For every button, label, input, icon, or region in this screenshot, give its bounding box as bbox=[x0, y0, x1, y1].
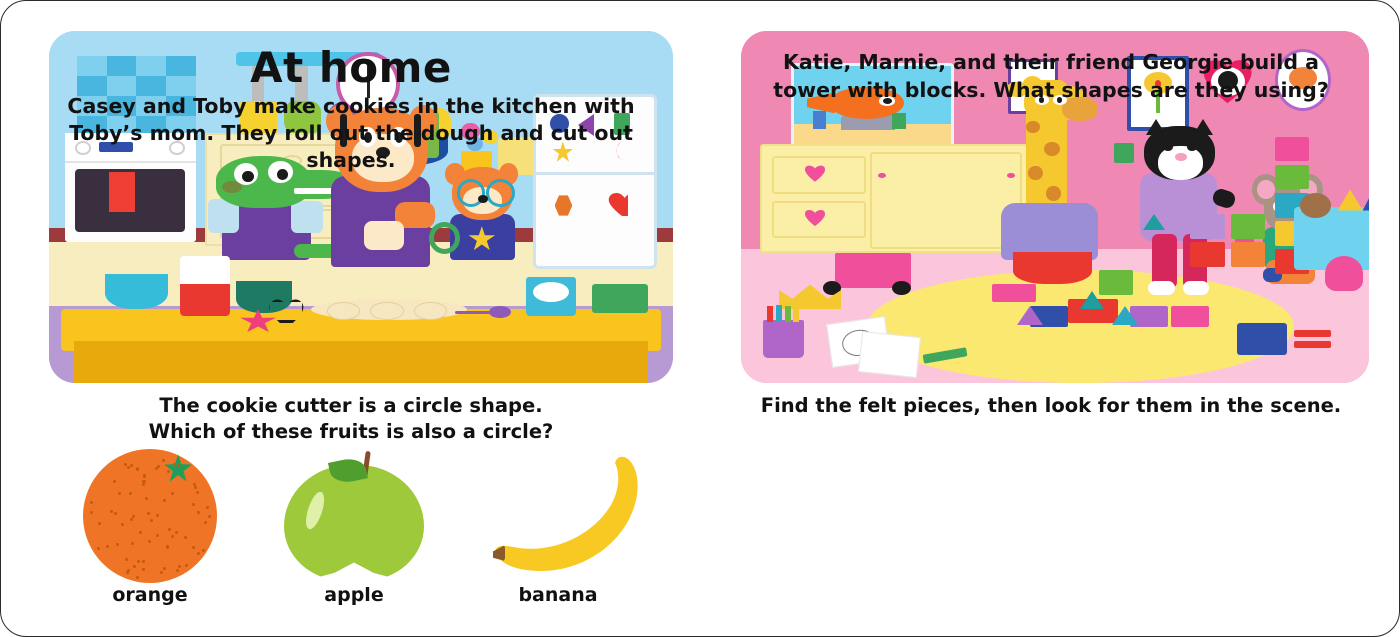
left-caption: The cookie cutter is a circle shape. Whi… bbox=[1, 393, 701, 445]
dough-circle-2 bbox=[370, 302, 403, 319]
orange-speckle bbox=[131, 542, 134, 545]
orange-speckle bbox=[184, 536, 187, 539]
block-triangle-purple bbox=[1017, 306, 1043, 325]
fish-tank-plant-icon bbox=[892, 113, 906, 129]
block-triangle-teal-2 bbox=[1143, 214, 1165, 230]
block-green-1 bbox=[1275, 165, 1310, 190]
orange-speckle bbox=[206, 506, 209, 509]
orange-speckle bbox=[90, 511, 93, 514]
orange-speckle bbox=[193, 483, 196, 486]
label-apple: apple bbox=[284, 584, 424, 606]
orange-speckle bbox=[171, 535, 174, 538]
orange-speckle bbox=[202, 549, 205, 552]
orange-speckle bbox=[148, 540, 151, 543]
orange-speckle bbox=[125, 558, 128, 561]
orange-speckle bbox=[142, 560, 145, 563]
orange-speckle bbox=[192, 546, 195, 549]
label-orange: orange bbox=[83, 584, 217, 606]
flour-bag-band bbox=[180, 284, 230, 316]
orange-speckle bbox=[204, 521, 207, 524]
orange-speckle bbox=[197, 511, 200, 514]
drawing-paper-2 bbox=[858, 331, 920, 378]
rag-doll-icon bbox=[1325, 256, 1363, 291]
orange-speckle bbox=[162, 459, 165, 462]
left-caption-line1: The cookie cutter is a circle shape. bbox=[1, 393, 701, 419]
orange-speckle bbox=[136, 468, 139, 471]
orange-speckle bbox=[118, 492, 121, 495]
kitchen-table-edge bbox=[74, 341, 648, 383]
right-intro-line1: Katie, Marnie, and their friend Georgie … bbox=[761, 49, 1341, 77]
banana-body-icon bbox=[493, 453, 643, 579]
orange-speckle bbox=[130, 464, 133, 467]
orange-speckle bbox=[127, 466, 130, 469]
dough-circle-3 bbox=[414, 302, 447, 319]
orange-speckle bbox=[137, 560, 140, 563]
tiger-cub-glasses-right bbox=[486, 179, 515, 207]
orange-speckle bbox=[178, 565, 181, 568]
orange-speckle bbox=[121, 523, 124, 526]
orange-speckle bbox=[124, 463, 127, 466]
orange-speckle bbox=[167, 470, 170, 473]
orange-speckle bbox=[116, 543, 119, 546]
left-intro-line1: Casey and Toby make cookies in the kitch… bbox=[41, 93, 661, 120]
orange-speckle bbox=[150, 519, 153, 522]
orange-speckle bbox=[106, 545, 109, 548]
orange-speckle bbox=[142, 483, 145, 486]
pencil-3 bbox=[785, 306, 791, 321]
block-pink-1 bbox=[1275, 137, 1310, 162]
block-pink-2 bbox=[1171, 306, 1209, 327]
fruit-banana[interactable] bbox=[493, 453, 643, 579]
star-cookie-cutter bbox=[239, 309, 276, 334]
orange-speckle bbox=[114, 512, 117, 515]
playroom-cabinet bbox=[760, 144, 1028, 254]
drum-stick-2 bbox=[1294, 341, 1332, 348]
block-red-2 bbox=[1190, 242, 1225, 267]
orange-speckle bbox=[194, 486, 197, 489]
orange-speckle bbox=[155, 467, 158, 470]
cat-eye-left bbox=[1163, 143, 1173, 151]
pencil-cup bbox=[763, 320, 804, 359]
cat-shoe-left bbox=[1148, 281, 1174, 295]
tiger-cub-nose bbox=[478, 195, 488, 203]
orange-speckle bbox=[166, 546, 169, 549]
cat-ear-right bbox=[1193, 119, 1213, 135]
orange-speckle bbox=[90, 501, 93, 504]
orange-speckle bbox=[163, 499, 166, 502]
orange-speckle bbox=[129, 492, 132, 495]
orange-speckle bbox=[126, 571, 129, 574]
orange-speckle bbox=[177, 464, 180, 467]
orange-speckle bbox=[160, 571, 163, 574]
orange-speckle bbox=[139, 531, 142, 534]
fruit-orange[interactable] bbox=[83, 449, 217, 583]
teddy-bear-icon bbox=[1300, 193, 1331, 218]
right-page: Katie, Marnie, and their friend Georgie … bbox=[701, 1, 1400, 637]
orange-stem-icon bbox=[163, 454, 192, 483]
block-orange-1 bbox=[1231, 242, 1266, 267]
block-purple-1 bbox=[1190, 214, 1225, 239]
apple-body-icon bbox=[284, 465, 424, 581]
orange-speckle bbox=[98, 522, 101, 525]
fish-tank-weed-icon bbox=[813, 111, 826, 129]
giraffe-spot-2 bbox=[1044, 142, 1060, 156]
pencil-2 bbox=[776, 305, 782, 322]
orange-speckle bbox=[142, 568, 145, 571]
pencil-4 bbox=[793, 308, 799, 322]
drum-stick-1 bbox=[1294, 330, 1332, 337]
fruit-apple[interactable] bbox=[284, 451, 424, 581]
giraffe-spot-4 bbox=[1046, 186, 1061, 200]
magnet-hexagon-icon bbox=[555, 195, 573, 215]
orange-speckle bbox=[197, 552, 200, 555]
label-banana: banana bbox=[483, 584, 633, 606]
toy-crown bbox=[779, 284, 842, 309]
orange-speckle bbox=[196, 491, 199, 494]
block-green-2 bbox=[1231, 214, 1266, 239]
cat-leg-left bbox=[1152, 234, 1176, 288]
tiger-mom-hands bbox=[364, 221, 404, 250]
block-pink-3 bbox=[992, 284, 1036, 302]
kitchen-scale bbox=[526, 277, 576, 316]
orange-speckle bbox=[185, 564, 188, 567]
character-giraffe bbox=[992, 80, 1105, 284]
flour-bag bbox=[180, 256, 230, 316]
apple-shine-icon bbox=[302, 489, 328, 531]
left-caption-line2: Which of these fruits is also a circle? bbox=[1, 419, 701, 445]
cat-nose bbox=[1175, 153, 1187, 161]
croc-sleeve-right bbox=[291, 201, 323, 233]
character-tiger-cub bbox=[442, 161, 523, 260]
left-page: At home Casey and Toby make cookies in t… bbox=[1, 1, 701, 637]
page-title: At home bbox=[1, 43, 701, 92]
orange-speckle bbox=[175, 531, 178, 534]
orange-speckle bbox=[143, 475, 146, 478]
cat-shoe-right bbox=[1183, 281, 1209, 295]
orange-speckle bbox=[132, 515, 135, 518]
orange-speckle bbox=[97, 547, 100, 550]
orange-speckle bbox=[110, 510, 113, 513]
orange-speckle bbox=[208, 515, 211, 518]
orange-speckle bbox=[130, 518, 133, 521]
right-intro-line2: tower with blocks. What shapes are they … bbox=[761, 77, 1341, 105]
book-spread: At home Casey and Toby make cookies in t… bbox=[0, 0, 1400, 637]
orange-speckle bbox=[163, 567, 166, 570]
cat-ear-left bbox=[1146, 119, 1166, 135]
orange-speckle bbox=[156, 534, 159, 537]
green-box bbox=[592, 284, 648, 312]
orange-speckle bbox=[171, 492, 174, 495]
toy-drum bbox=[1237, 323, 1287, 355]
giraffe-spot-1 bbox=[1026, 121, 1040, 133]
wagon-wheel-2 bbox=[892, 281, 911, 295]
oven-towel bbox=[109, 172, 135, 211]
right-intro-text: Katie, Marnie, and their friend Georgie … bbox=[761, 49, 1341, 104]
cat-held-block bbox=[1114, 143, 1134, 163]
orange-speckle bbox=[147, 512, 150, 515]
orange-speckle bbox=[143, 480, 146, 483]
orange-speckle bbox=[168, 528, 171, 531]
dough-circle-1 bbox=[327, 302, 360, 319]
right-caption: Find the felt pieces, then look for them… bbox=[701, 393, 1400, 419]
cat-muzzle bbox=[1158, 146, 1202, 180]
scale-dial bbox=[533, 282, 569, 302]
block-green-3 bbox=[1099, 270, 1134, 295]
circle-cookie-cutter bbox=[429, 222, 460, 254]
block-triangle-teal bbox=[1080, 291, 1104, 309]
pencil-1 bbox=[767, 306, 773, 321]
left-intro-text: Casey and Toby make cookies in the kitch… bbox=[41, 93, 661, 174]
cat-eye-right bbox=[1187, 143, 1197, 151]
orange-speckle bbox=[156, 514, 159, 517]
left-intro-line2: Toby’s mom. They roll out the dough and … bbox=[41, 120, 661, 174]
mixing-bowl bbox=[105, 274, 167, 309]
orange-speckle bbox=[113, 480, 116, 483]
magnet-heart-icon bbox=[607, 192, 628, 216]
purple-spoon bbox=[455, 306, 511, 320]
orange-speckle bbox=[136, 576, 139, 579]
block-triangle-blue bbox=[1112, 306, 1138, 325]
giraffe-dress-skirt bbox=[1013, 252, 1092, 285]
orange-speckle bbox=[176, 569, 179, 572]
orange-speckle bbox=[145, 497, 148, 500]
orange-speckle bbox=[192, 503, 195, 506]
orange-speckle bbox=[133, 565, 136, 568]
